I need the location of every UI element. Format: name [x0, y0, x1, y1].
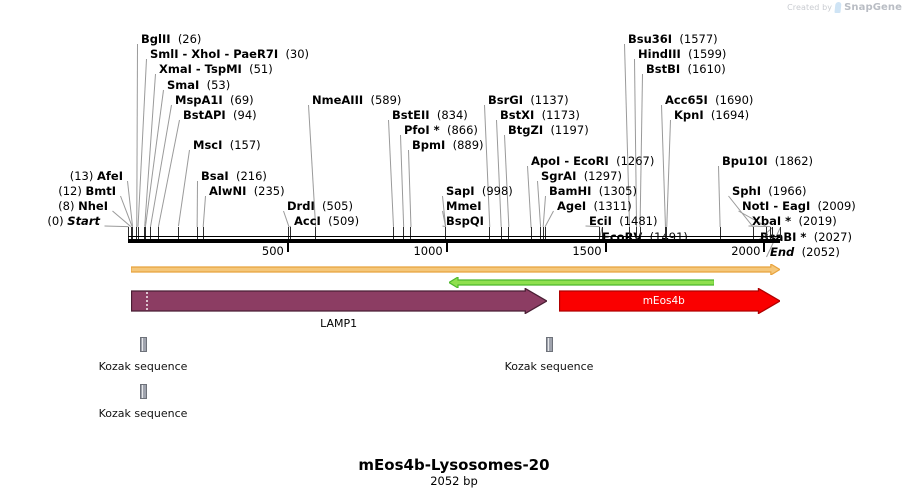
misc-feature-label: Kozak sequence [460, 360, 638, 373]
leader-line [158, 120, 180, 227]
restriction-site-tick [772, 227, 773, 239]
annotation-track-green-track[interactable] [449, 277, 714, 288]
restriction-site-tick [128, 227, 129, 239]
restriction-site-label-xbai: XbaI * (2019) [752, 215, 837, 227]
misc-feature-label: Kozak sequence [54, 407, 232, 420]
leader-line [634, 59, 637, 227]
restriction-site-label-bglii: BglII (26) [141, 33, 201, 45]
restriction-site-label-acc65i: Acc65I (1690) [665, 94, 753, 106]
restriction-site-label-bstxi: BstXI (1173) [500, 109, 580, 121]
restriction-site-tick [720, 227, 721, 239]
restriction-site-tick [599, 227, 600, 239]
ruler-hairline [128, 236, 780, 237]
restriction-site-tick [203, 227, 204, 239]
leader-line [537, 181, 541, 227]
ruler-tick-label: 500 [239, 244, 284, 258]
restriction-site-label-drdi: DrdI (505) [287, 200, 353, 212]
ruler-tick [605, 243, 607, 252]
restriction-site-tick [410, 227, 411, 239]
restriction-site-tick [150, 227, 151, 239]
restriction-site-tick [315, 227, 316, 239]
restriction-site-label-smai: SmaI (53) [167, 79, 230, 91]
restriction-site-label-nmeaiii: NmeAIII (589) [312, 94, 401, 106]
restriction-site-label-ecii: EciI (1481) [589, 215, 657, 227]
restriction-site-tick [445, 227, 446, 239]
watermark-prefix: Created by [787, 3, 832, 12]
snapgene-logo-icon [835, 2, 842, 13]
restriction-site-tick [543, 227, 544, 239]
restriction-site-tick [393, 227, 394, 239]
leader-line [661, 105, 666, 227]
restriction-site-tick [540, 227, 541, 239]
ruler-tick-label: 2000 [715, 244, 760, 258]
leader-line [545, 211, 554, 227]
restriction-site-tick [602, 227, 603, 239]
restriction-site-tick [753, 227, 754, 239]
leader-line [104, 226, 128, 228]
restriction-site-tick [531, 227, 532, 239]
leader-line [203, 196, 206, 227]
restriction-site-label-bpu10i: Bpu10I (1862) [722, 155, 813, 167]
restriction-site-label-end: End (2052) [770, 246, 840, 258]
restriction-site-label-afei: (13) AfeI [0, 170, 123, 182]
restriction-site-tick [145, 227, 146, 239]
annotation-track-orange-track[interactable] [131, 264, 780, 275]
leader-line [666, 120, 671, 227]
misc-feature-marker[interactable] [140, 384, 147, 399]
restriction-site-label-acci: AccI (509) [294, 215, 359, 227]
restriction-site-label-btgzi: BtgZI (1197) [508, 124, 589, 136]
restriction-site-label-bsai: BsaI (216) [201, 170, 267, 182]
restriction-site-label-bamhi: BamHI (1305) [549, 185, 637, 197]
restriction-site-tick [138, 227, 139, 239]
marker-slit [142, 385, 143, 398]
restriction-site-tick [780, 227, 781, 239]
leader-line [197, 181, 198, 227]
restriction-site-label-bmti: (12) BmtI [0, 185, 116, 197]
restriction-site-label-noti: NotI - EagI (2009) [742, 200, 856, 212]
snapgene-watermark: Created by SnapGene [787, 2, 902, 13]
sequence-ruler-bar [128, 239, 780, 243]
restriction-site-label-alwni: AlwNI (235) [209, 185, 285, 197]
restriction-site-label-nhei: (8) NheI [0, 200, 108, 212]
restriction-site-label-bstapi: BstAPI (94) [183, 109, 257, 121]
restriction-site-label-smli: SmlI - XhoI - PaeR7I (30) [150, 48, 309, 60]
restriction-site-tick [290, 227, 291, 239]
restriction-site-tick [403, 227, 404, 239]
ruler-tick [763, 243, 765, 252]
plasmid-length: 2052 bp [0, 474, 908, 488]
restriction-site-label-bsu36i: Bsu36I (1577) [628, 33, 718, 45]
restriction-site-label-hindiii: HindIII (1599) [638, 48, 726, 60]
leader-line [504, 135, 509, 227]
restriction-site-tick [640, 227, 641, 239]
restriction-site-label-apoi: ApoI - EcoRI (1267) [531, 155, 654, 167]
leader-line [136, 44, 138, 227]
restriction-site-label-bsrgi: BsrGI (1137) [488, 94, 569, 106]
restriction-site-tick [501, 227, 502, 239]
restriction-site-tick [178, 227, 179, 239]
restriction-site-tick [629, 227, 630, 239]
restriction-site-tick [489, 227, 490, 239]
restriction-site-tick [766, 227, 767, 239]
restriction-site-label-sgrai: SgrAI (1297) [541, 170, 622, 182]
leader-line [496, 120, 502, 227]
restriction-site-label-start: (0) Start [0, 215, 100, 227]
restriction-site-tick [131, 227, 132, 239]
restriction-site-tick [636, 227, 637, 239]
leader-line [178, 150, 190, 227]
feature-label-meos4b: mEos4b [559, 295, 769, 307]
leader-line [283, 211, 289, 227]
restriction-site-tick [508, 227, 509, 239]
restriction-site-label-bspqi: BspQI [446, 215, 484, 227]
restriction-site-label-sphi: SphI (1966) [732, 185, 807, 197]
restriction-site-tick [158, 227, 159, 239]
restriction-site-tick [666, 227, 667, 239]
ruler-tick [446, 243, 448, 252]
restriction-site-label-bstbi: BstBI (1610) [646, 63, 726, 75]
restriction-site-tick [545, 227, 546, 239]
restriction-site-label-pfoi: PfoI * (866) [404, 124, 478, 136]
misc-feature-label: Kozak sequence [54, 360, 232, 373]
leader-line [400, 135, 404, 227]
restriction-site-label-kpni: KpnI (1694) [674, 109, 749, 121]
ruler-tick [287, 243, 289, 252]
leader-line [484, 105, 490, 227]
restriction-site-label-xmai: XmaI - TspMI (51) [159, 63, 273, 75]
leader-line [527, 166, 532, 227]
restriction-site-tick [770, 227, 771, 239]
plasmid-map: Created by SnapGene BglII (26)SmlI - Xho… [0, 0, 908, 496]
leader-line [388, 120, 394, 227]
restriction-site-label-mmei: MmeI [446, 200, 482, 212]
restriction-site-label-bpmi: BpmI (889) [412, 139, 484, 151]
feature-lamp1[interactable] [131, 288, 547, 314]
page-title: mEos4b-Lysosomes-20 [0, 456, 908, 474]
restriction-site-label-msci: MscI (157) [193, 139, 261, 151]
marker-slit [142, 338, 143, 351]
ruler-tick-label: 1500 [557, 244, 602, 258]
restriction-site-tick [132, 227, 133, 239]
misc-feature-marker[interactable] [546, 337, 553, 352]
ruler-tick-label: 1000 [398, 244, 443, 258]
leader-line [640, 74, 643, 227]
leader-line [408, 150, 411, 227]
marker-slit [548, 338, 549, 351]
leader-line [718, 166, 721, 227]
restriction-site-label-sapi: SapI (998) [446, 185, 513, 197]
feature-label-lamp1: LAMP1 [131, 317, 547, 330]
restriction-site-label-agei: AgeI (1311) [557, 200, 632, 212]
misc-feature-marker[interactable] [140, 337, 147, 352]
watermark-brand: SnapGene [844, 2, 902, 13]
restriction-site-label-bstei: BstEII (834) [392, 109, 468, 121]
restriction-site-tick [197, 227, 198, 239]
restriction-site-label-mspa1i: MspA1I (69) [175, 94, 254, 106]
